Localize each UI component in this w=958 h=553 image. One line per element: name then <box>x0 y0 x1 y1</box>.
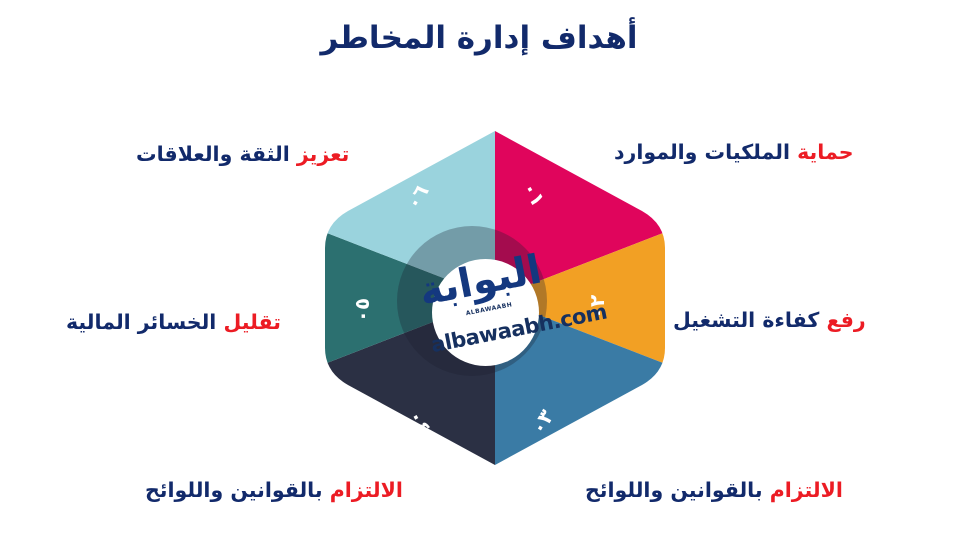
label-rest-01: الملكيات والموارد <box>614 140 790 164</box>
infographic-canvas: أهداف إدارة المخاطر <box>0 0 958 553</box>
label-operational-efficiency: رفع كفاءة التشغيل <box>673 308 866 332</box>
label-rest-06: الثقة والعلاقات <box>136 142 290 166</box>
label-highlight-01: حماية <box>797 140 853 164</box>
label-highlight-06: تعزيز <box>297 142 349 166</box>
label-highlight-05: تقليل <box>223 310 281 334</box>
watermark-logo: البوابة ALBAWAABH albawaabh.com <box>414 245 561 379</box>
label-highlight-02: رفع <box>826 308 865 332</box>
label-reduce-financial-loss: تقليل الخسائر المالية <box>66 310 281 334</box>
label-rest-02: كفاءة التشغيل <box>673 308 819 332</box>
label-regulatory-compliance: الالتزام بالقوانين واللوائح <box>585 478 843 502</box>
label-highlight-03: الالتزام <box>770 478 843 502</box>
label-rest-05: الخسائر المالية <box>66 310 216 334</box>
label-highlight-04: الالتزام <box>330 478 403 502</box>
label-rest-03: بالقوانين واللوائح <box>585 478 763 502</box>
label-legal-compliance: الالتزام بالقوانين واللوائح <box>145 478 403 502</box>
segment-number-05: ٠٥ <box>350 298 374 322</box>
label-protect-assets: حماية الملكيات والموارد <box>614 140 853 164</box>
label-build-trust: تعزيز الثقة والعلاقات <box>136 142 349 166</box>
label-rest-04: بالقوانين واللوائح <box>145 478 323 502</box>
page-title: أهداف إدارة المخاطر <box>0 20 958 56</box>
